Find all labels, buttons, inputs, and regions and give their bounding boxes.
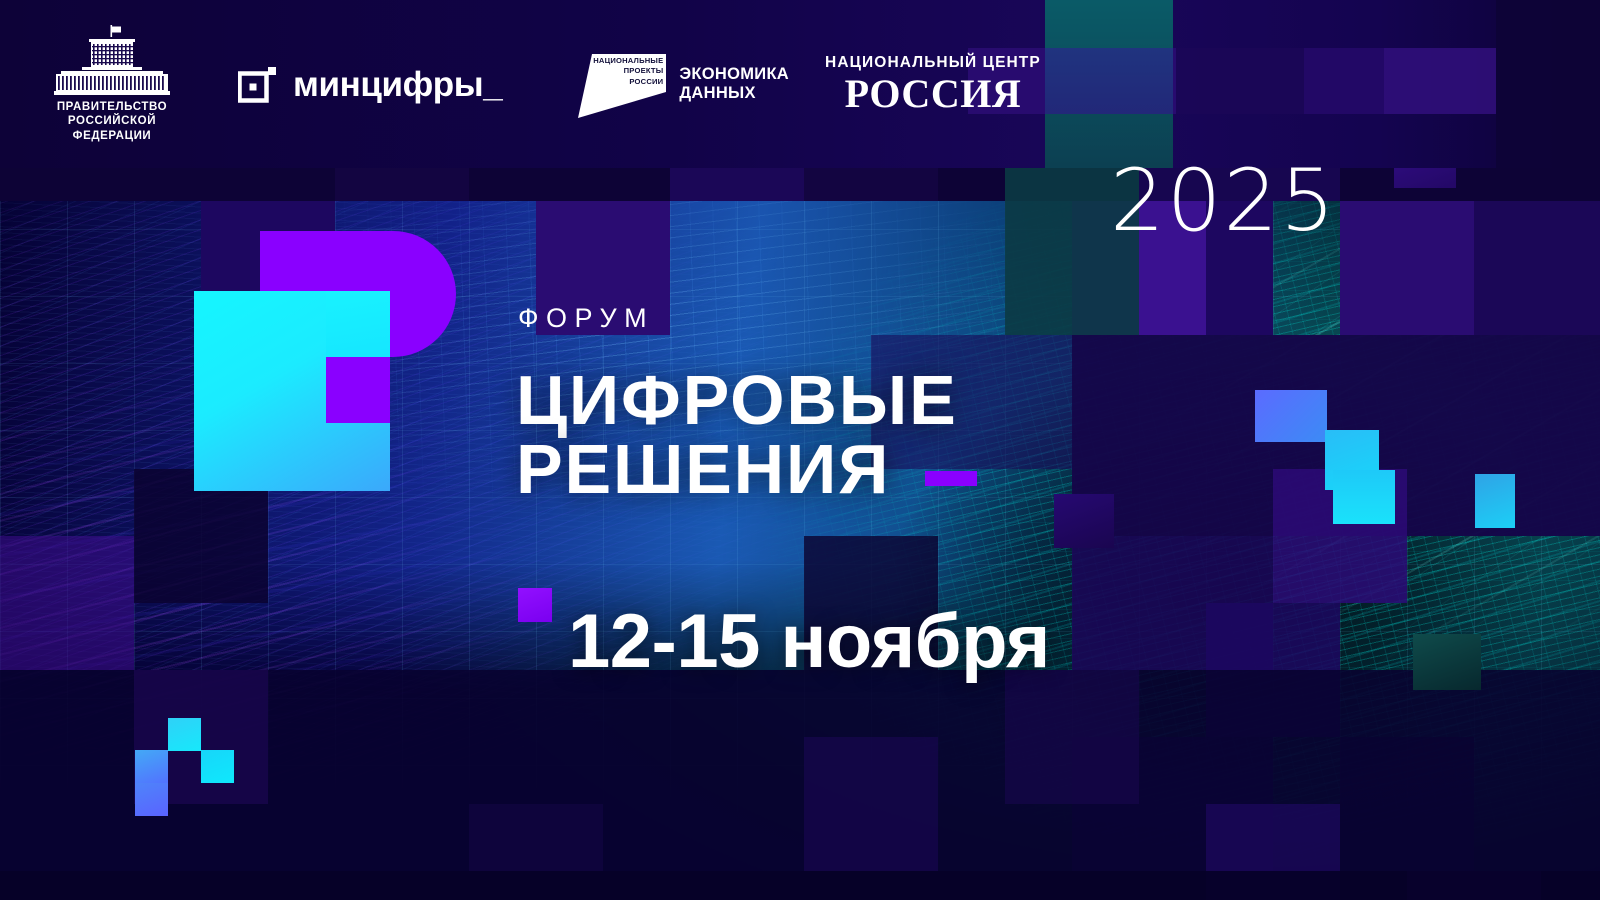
- logo-national-center-russia[interactable]: НАЦИОНАЛЬНЫЙ ЦЕНТР РОССИЯ: [825, 54, 1041, 114]
- mosaic-tile: [1340, 201, 1474, 335]
- government-building-icon: [52, 25, 172, 97]
- accent-tile-small-blue-b: [135, 783, 168, 816]
- mosaic-tile: [1474, 201, 1600, 335]
- accent-tile-blue: [1255, 390, 1327, 442]
- mosaic-tile: [1005, 670, 1139, 804]
- logomark-cyan-tab: [326, 291, 390, 357]
- header-logos: ПРАВИТЕЛЬСТВО РОССИЙСКОЙ ФЕДЕРАЦИИ минци…: [0, 0, 1600, 168]
- forum-logomark: [194, 231, 456, 491]
- mincifry-square-icon: [238, 64, 278, 104]
- accent-tile-violet-b: [1054, 494, 1114, 548]
- page-title: ЦИФРОВЫЕ РЕШЕНИЯ: [516, 366, 958, 505]
- mosaic-tile: [804, 737, 938, 871]
- logo-economy-of-data-label: ЭКОНОМИКА ДАННЫХ: [679, 65, 789, 104]
- logomark-purple-square: [326, 357, 390, 423]
- national-projects-flag-icon: НАЦИОНАЛЬНЫЕ ПРОЕКТЫ РОССИИ: [574, 46, 666, 122]
- eyebrow-forum: ФОРУМ: [518, 305, 958, 332]
- logo-government-label: ПРАВИТЕЛЬСТВО РОССИЙСКОЙ ФЕДЕРАЦИИ: [57, 100, 167, 142]
- logo-mincifry-label: минцифры_: [293, 67, 502, 102]
- mosaic-tile: [0, 871, 1600, 900]
- accent-tile-teal-dark: [1413, 634, 1481, 690]
- national-projects-label: НАЦИОНАЛЬНЫЕ ПРОЕКТЫ РОССИИ: [593, 56, 663, 87]
- accent-tile-cyan-2: [1333, 470, 1395, 524]
- national-center-label: НАЦИОНАЛЬНЫЙ ЦЕНТР: [825, 54, 1041, 72]
- accent-tile-small-cyan: [168, 718, 201, 751]
- accent-tile-small-cyan-b: [201, 750, 234, 783]
- mosaic-tile: [469, 804, 603, 871]
- russia-ornament-icon: РОССИЯ: [845, 74, 1022, 114]
- logo-mincifry[interactable]: минцифры_: [238, 64, 502, 104]
- logo-government-of-russia[interactable]: ПРАВИТЕЛЬСТВО РОССИЙСКОЙ ФЕДЕРАЦИИ: [52, 25, 172, 142]
- accent-tile-edge-cyan: [1475, 474, 1515, 528]
- event-date: 12-15 ноября: [568, 604, 1050, 680]
- forum-poster: ПРАВИТЕЛЬСТВО РОССИЙСКОЙ ФЕДЕРАЦИИ минци…: [0, 0, 1600, 900]
- logo-economy-of-data[interactable]: НАЦИОНАЛЬНЫЕ ПРОЕКТЫ РОССИИ ЭКОНОМИКА ДА…: [574, 46, 789, 122]
- title-underscore-accent: [925, 471, 977, 486]
- mosaic-tile: [0, 536, 134, 670]
- main-copy: ФОРУМ ЦИФРОВЫЕ РЕШЕНИЯ: [516, 305, 958, 505]
- year-label: 2025: [1110, 158, 1337, 244]
- date-square-accent: [518, 588, 552, 622]
- accent-tile-small-blue-a: [135, 750, 168, 783]
